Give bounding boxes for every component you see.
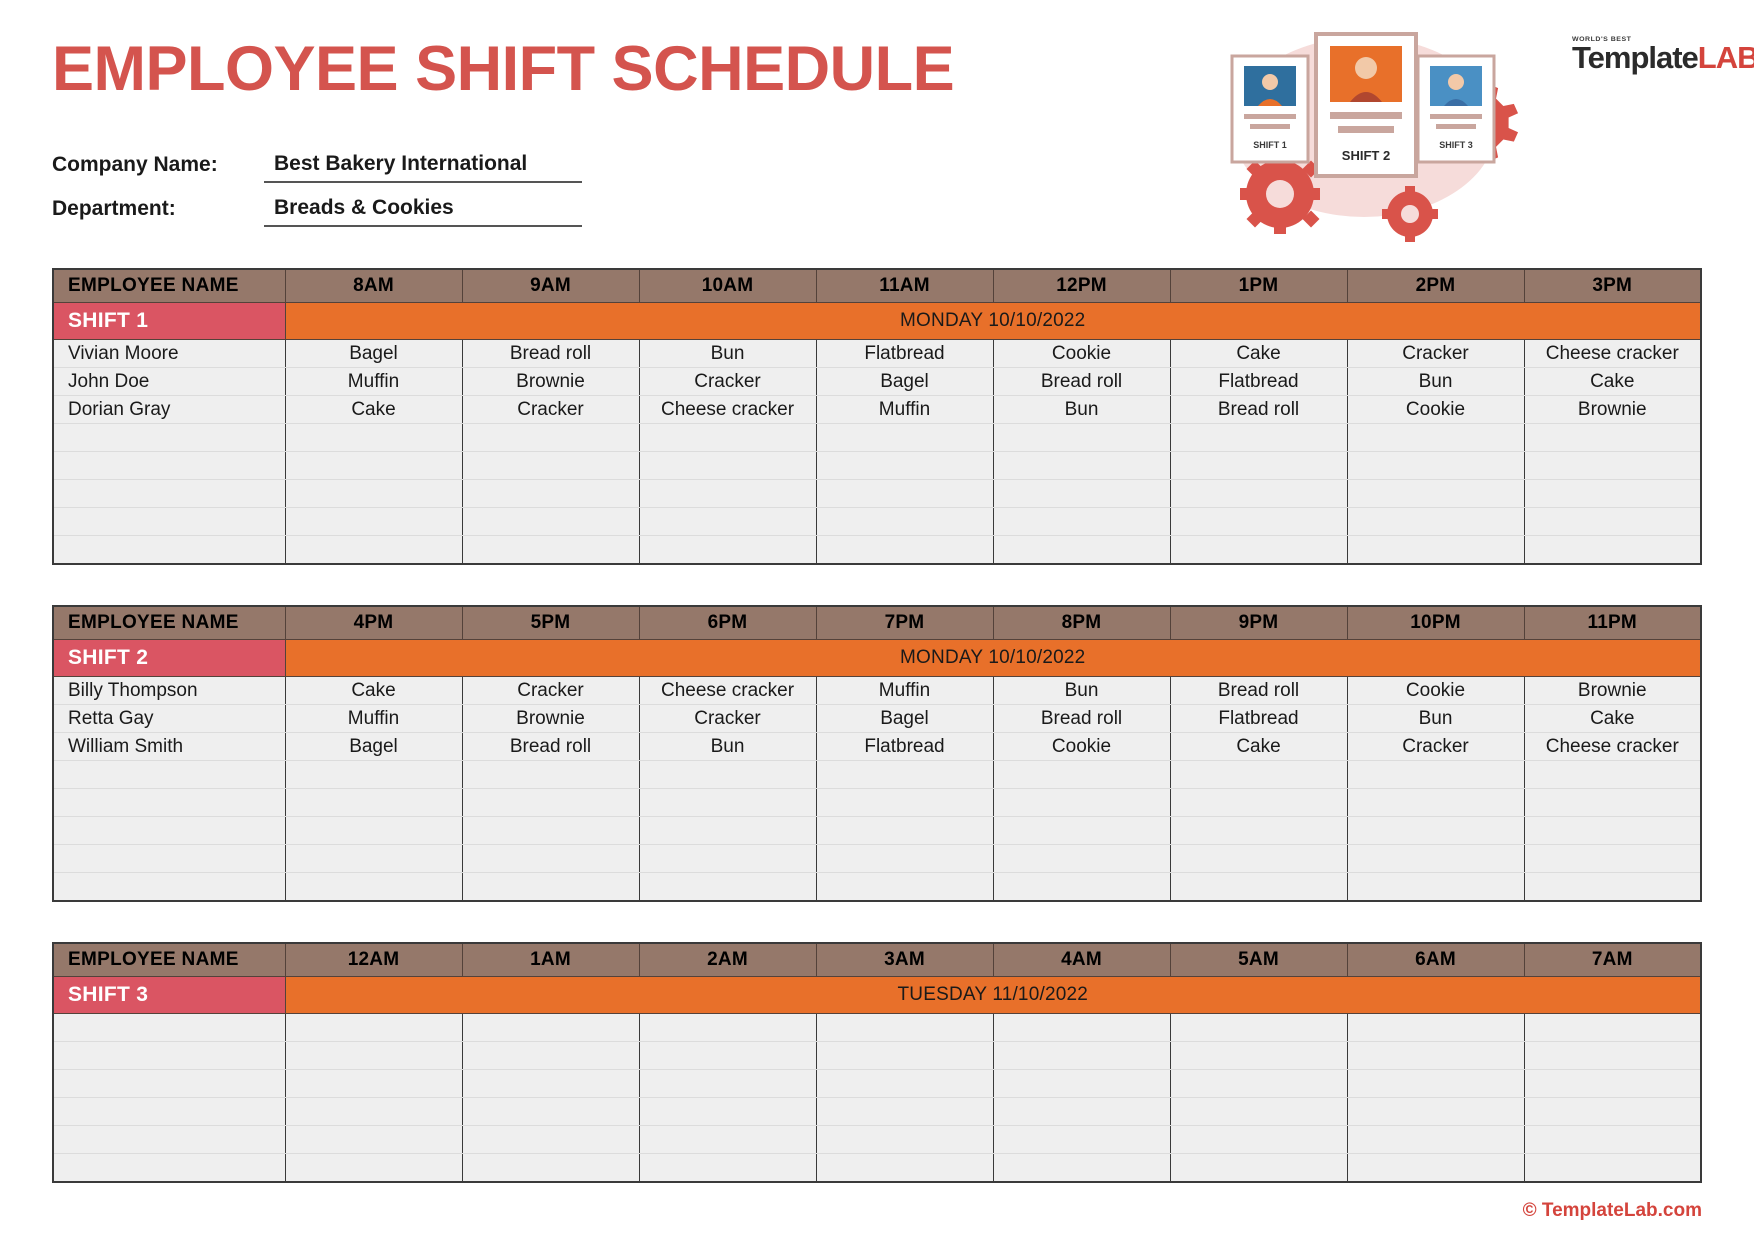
shift-task-cell[interactable]: Muffin <box>816 677 993 705</box>
shift-task-cell[interactable]: Cake <box>1170 340 1347 368</box>
shift-task-cell[interactable] <box>1347 1042 1524 1070</box>
shift-task-cell[interactable] <box>1524 508 1701 536</box>
shift-task-cell[interactable] <box>993 508 1170 536</box>
column-header-hour: 12PM <box>993 269 1170 303</box>
shift-task-cell[interactable] <box>639 1070 816 1098</box>
shift-task-cell[interactable] <box>639 1042 816 1070</box>
employee-name-cell[interactable]: Vivian Moore <box>53 340 285 368</box>
table-row <box>53 480 1701 508</box>
shift-task-cell[interactable] <box>1170 424 1347 452</box>
footer-copyright: © TemplateLab.com <box>1523 1200 1702 1222</box>
table-row <box>53 536 1701 565</box>
shift-task-cell[interactable]: Brownie <box>462 368 639 396</box>
shift-task-cell[interactable] <box>462 480 639 508</box>
column-header-employee-name: EMPLOYEE NAME <box>53 606 285 640</box>
shift-task-cell[interactable] <box>462 508 639 536</box>
employee-name-cell[interactable] <box>53 789 285 817</box>
brand-name: TemplateLAB <box>1572 43 1698 72</box>
shift-task-cell[interactable] <box>285 789 462 817</box>
shift-task-cell[interactable]: Muffin <box>285 368 462 396</box>
shift-task-cell[interactable] <box>639 873 816 902</box>
shift-task-cell[interactable] <box>816 1154 993 1183</box>
employee-name-cell[interactable] <box>53 1070 285 1098</box>
shift-task-cell[interactable]: Cheese cracker <box>1524 340 1701 368</box>
shift-schedule-page: EMPLOYEE SHIFT SCHEDULE Company Name: Be… <box>0 0 1754 1240</box>
employee-name-cell[interactable] <box>53 845 285 873</box>
shift-task-cell[interactable]: Cookie <box>993 733 1170 761</box>
table-row: Retta GayMuffinBrownieCrackerBagelBread … <box>53 705 1701 733</box>
shift-task-cell[interactable]: Bread roll <box>462 733 639 761</box>
column-header-hour: 9PM <box>1170 606 1347 640</box>
shift-task-cell[interactable] <box>1524 761 1701 789</box>
employee-name-cell[interactable] <box>53 873 285 902</box>
shift-task-cell[interactable]: Flatbread <box>1170 705 1347 733</box>
shift-task-cell[interactable] <box>1170 1126 1347 1154</box>
column-header-hour: 5AM <box>1170 943 1347 977</box>
shift-task-cell[interactable] <box>993 789 1170 817</box>
shift-task-cell[interactable] <box>1524 817 1701 845</box>
schedule-tables: EMPLOYEE NAME8AM9AM10AM11AM12PM1PM2PM3PM… <box>52 268 1702 1183</box>
employee-name-cell[interactable] <box>53 508 285 536</box>
shift-task-cell[interactable]: Bun <box>639 733 816 761</box>
column-header-hour: 6PM <box>639 606 816 640</box>
shift-task-cell[interactable] <box>285 480 462 508</box>
table-header-row: EMPLOYEE NAME12AM1AM2AM3AM4AM5AM6AM7AM <box>53 943 1701 977</box>
employee-name-cell[interactable]: Dorian Gray <box>53 396 285 424</box>
table-row: Dorian GrayCakeCrackerCheese crackerMuff… <box>53 396 1701 424</box>
column-header-hour: 2AM <box>639 943 816 977</box>
shift-task-cell[interactable] <box>1524 1042 1701 1070</box>
shift-task-cell[interactable] <box>1524 424 1701 452</box>
shift-task-cell[interactable] <box>993 480 1170 508</box>
shift-task-cell[interactable]: Bagel <box>285 733 462 761</box>
shift-task-cell[interactable] <box>816 1070 993 1098</box>
table-header-row: EMPLOYEE NAME8AM9AM10AM11AM12PM1PM2PM3PM <box>53 269 1701 303</box>
shift-task-cell[interactable] <box>1170 536 1347 565</box>
shift-task-cell[interactable] <box>1524 1014 1701 1042</box>
shift-task-cell[interactable] <box>462 536 639 565</box>
brand-tagline: WORLD'S BEST <box>1572 36 1698 42</box>
shift-task-cell[interactable] <box>462 761 639 789</box>
shift-task-cell[interactable]: Bread roll <box>1170 396 1347 424</box>
shift-task-cell[interactable] <box>1170 789 1347 817</box>
employee-name-cell[interactable] <box>53 1126 285 1154</box>
department-value[interactable]: Breads & Cookies <box>264 196 582 227</box>
shift-task-cell[interactable] <box>993 1042 1170 1070</box>
employee-name-cell[interactable]: John Doe <box>53 368 285 396</box>
shift-task-cell[interactable] <box>1347 452 1524 480</box>
table-row: Vivian MooreBagelBread rollBunFlatbreadC… <box>53 340 1701 368</box>
schedule-table-shift-2: EMPLOYEE NAME4PM5PM6PM7PM8PM9PM10PM11PMS… <box>52 605 1702 902</box>
shift-task-cell[interactable] <box>462 1098 639 1126</box>
shift-task-cell[interactable] <box>993 536 1170 565</box>
shift-task-cell[interactable] <box>1170 480 1347 508</box>
shift-task-cell[interactable] <box>285 536 462 565</box>
table-row <box>53 452 1701 480</box>
shift-task-cell[interactable] <box>1170 1154 1347 1183</box>
shift-task-cell[interactable]: Cake <box>285 396 462 424</box>
table-header-row: EMPLOYEE NAME4PM5PM6PM7PM8PM9PM10PM11PM <box>53 606 1701 640</box>
shift-task-cell[interactable]: Bread roll <box>1170 677 1347 705</box>
shift-task-cell[interactable] <box>1170 817 1347 845</box>
shift-task-cell[interactable] <box>1347 536 1524 565</box>
shift-task-cell[interactable] <box>1524 1098 1701 1126</box>
shift-task-cell[interactable]: Bread roll <box>993 705 1170 733</box>
shift-task-cell[interactable]: Cracker <box>639 705 816 733</box>
shift-task-cell[interactable] <box>462 1126 639 1154</box>
department-label: Department: <box>52 197 264 227</box>
shift-task-cell[interactable] <box>993 845 1170 873</box>
shift-task-cell[interactable]: Bun <box>993 677 1170 705</box>
shift-task-cell[interactable]: Bagel <box>816 368 993 396</box>
column-header-hour: 9AM <box>462 269 639 303</box>
shift-task-cell[interactable] <box>1524 1126 1701 1154</box>
column-header-hour: 4AM <box>993 943 1170 977</box>
shift-task-cell[interactable] <box>639 789 816 817</box>
shift-task-cell[interactable]: Bun <box>639 340 816 368</box>
column-header-hour: 10PM <box>1347 606 1524 640</box>
shift-task-cell[interactable] <box>285 1014 462 1042</box>
shift-task-cell[interactable] <box>639 845 816 873</box>
shift-task-cell[interactable]: Cheese cracker <box>1524 733 1701 761</box>
shift-task-cell[interactable] <box>285 424 462 452</box>
shift-task-cell[interactable] <box>1347 1070 1524 1098</box>
card-label-shift-2: SHIFT 2 <box>1342 148 1390 163</box>
shift-task-cell[interactable]: Cookie <box>993 340 1170 368</box>
shift-task-cell[interactable]: Cracker <box>462 396 639 424</box>
shift-task-cell[interactable] <box>816 424 993 452</box>
table-row <box>53 1014 1701 1042</box>
table-row <box>53 873 1701 902</box>
shift-task-cell[interactable] <box>993 452 1170 480</box>
column-header-hour: 5PM <box>462 606 639 640</box>
shift-banner-row: SHIFT 3TUESDAY 11/10/2022 <box>53 977 1701 1014</box>
table-row <box>53 817 1701 845</box>
shift-task-cell[interactable] <box>1170 452 1347 480</box>
shift-label: SHIFT 1 <box>53 303 285 340</box>
shift-task-cell[interactable] <box>462 424 639 452</box>
shift-label: SHIFT 3 <box>53 977 285 1014</box>
employee-name-cell[interactable] <box>53 1098 285 1126</box>
shift-task-cell[interactable] <box>993 1098 1170 1126</box>
employee-name-cell[interactable] <box>53 1042 285 1070</box>
shift-task-cell[interactable] <box>1170 1098 1347 1126</box>
shift-task-cell[interactable] <box>993 1070 1170 1098</box>
shift-task-cell[interactable] <box>639 424 816 452</box>
shift-task-cell[interactable]: Cracker <box>1347 340 1524 368</box>
brand-name-lab: LAB <box>1698 40 1754 75</box>
shift-task-cell[interactable] <box>639 817 816 845</box>
table-row <box>53 1154 1701 1183</box>
shift-task-cell[interactable]: Flatbread <box>1170 368 1347 396</box>
shift-task-cell[interactable] <box>1347 424 1524 452</box>
table-row <box>53 1070 1701 1098</box>
shift-task-cell[interactable] <box>462 789 639 817</box>
shift-task-cell[interactable] <box>462 817 639 845</box>
shift-task-cell[interactable] <box>993 817 1170 845</box>
column-header-hour: 12AM <box>285 943 462 977</box>
shift-task-cell[interactable] <box>285 1098 462 1126</box>
shift-task-cell[interactable] <box>1170 508 1347 536</box>
shift-task-cell[interactable]: Cheese cracker <box>639 396 816 424</box>
shift-task-cell[interactable] <box>1347 1098 1524 1126</box>
shift-task-cell[interactable] <box>816 1014 993 1042</box>
shift-task-cell[interactable]: Cake <box>1524 705 1701 733</box>
shift-task-cell[interactable] <box>462 1042 639 1070</box>
id-card-shift-3: SHIFT 3 <box>1418 56 1494 162</box>
shift-task-cell[interactable] <box>1347 845 1524 873</box>
shift-banner-row: SHIFT 1MONDAY 10/10/2022 <box>53 303 1701 340</box>
shift-task-cell[interactable] <box>1524 452 1701 480</box>
shift-task-cell[interactable] <box>816 845 993 873</box>
column-header-hour: 1AM <box>462 943 639 977</box>
shift-task-cell[interactable] <box>285 1042 462 1070</box>
shift-task-cell[interactable]: Cake <box>1524 368 1701 396</box>
table-row <box>53 761 1701 789</box>
shift-task-cell[interactable]: Cake <box>285 677 462 705</box>
shift-task-cell[interactable] <box>285 452 462 480</box>
employee-name-cell[interactable] <box>53 452 285 480</box>
shift-task-cell[interactable]: Bread roll <box>993 368 1170 396</box>
employee-name-cell[interactable] <box>53 817 285 845</box>
column-header-hour: 1PM <box>1170 269 1347 303</box>
shift-task-cell[interactable] <box>1170 873 1347 902</box>
shift-task-cell[interactable] <box>462 452 639 480</box>
column-header-hour: 6AM <box>1347 943 1524 977</box>
shift-task-cell[interactable] <box>816 789 993 817</box>
shift-task-cell[interactable] <box>285 1154 462 1183</box>
column-header-hour: 3PM <box>1524 269 1701 303</box>
shift-task-cell[interactable] <box>816 1042 993 1070</box>
shift-task-cell[interactable] <box>816 508 993 536</box>
shift-task-cell[interactable] <box>639 1098 816 1126</box>
shift-task-cell[interactable] <box>1347 1126 1524 1154</box>
employee-name-cell[interactable] <box>53 1154 285 1183</box>
shift-task-cell[interactable] <box>639 480 816 508</box>
shift-task-cell[interactable] <box>1524 536 1701 565</box>
shift-task-cell[interactable] <box>993 424 1170 452</box>
shift-task-cell[interactable]: Cracker <box>1347 733 1524 761</box>
table-row <box>53 424 1701 452</box>
shift-task-cell[interactable]: Cake <box>1170 733 1347 761</box>
shift-task-cell[interactable] <box>1347 789 1524 817</box>
shift-task-cell[interactable] <box>1347 873 1524 902</box>
shift-banner-row: SHIFT 2MONDAY 10/10/2022 <box>53 640 1701 677</box>
shift-task-cell[interactable]: Cracker <box>639 368 816 396</box>
illustration-svg: SHIFT 1 SHIFT 3 <box>1224 22 1524 252</box>
employee-name-cell[interactable] <box>53 424 285 452</box>
column-header-hour: 7PM <box>816 606 993 640</box>
table-row: John DoeMuffinBrownieCrackerBagelBread r… <box>53 368 1701 396</box>
id-card-shift-1: SHIFT 1 <box>1232 56 1308 162</box>
table-row <box>53 845 1701 873</box>
shift-task-cell[interactable] <box>816 480 993 508</box>
employee-name-cell[interactable]: Retta Gay <box>53 705 285 733</box>
table-row <box>53 1098 1701 1126</box>
shift-task-cell[interactable] <box>1170 1014 1347 1042</box>
employee-name-cell[interactable]: Billy Thompson <box>53 677 285 705</box>
shift-task-cell[interactable] <box>816 536 993 565</box>
shift-task-cell[interactable] <box>285 1070 462 1098</box>
column-header-hour: 8AM <box>285 269 462 303</box>
brand-name-template: Template <box>1572 40 1698 75</box>
shift-task-cell[interactable] <box>285 1126 462 1154</box>
table-row <box>53 1126 1701 1154</box>
schedule-table-shift-3: EMPLOYEE NAME12AM1AM2AM3AM4AM5AM6AM7AMSH… <box>52 942 1702 1183</box>
shift-task-cell[interactable] <box>1524 789 1701 817</box>
schedule-table-block-3: EMPLOYEE NAME12AM1AM2AM3AM4AM5AM6AM7AMSH… <box>52 942 1702 1183</box>
column-header-employee-name: EMPLOYEE NAME <box>53 269 285 303</box>
company-name-value[interactable]: Best Bakery International <box>264 152 582 183</box>
shift-task-cell[interactable] <box>462 1070 639 1098</box>
schedule-table-block-2: EMPLOYEE NAME4PM5PM6PM7PM8PM9PM10PM11PMS… <box>52 605 1702 902</box>
shift-task-cell[interactable]: Bun <box>1347 368 1524 396</box>
shift-cards-illustration: SHIFT 1 SHIFT 3 <box>1224 22 1524 252</box>
shift-task-cell[interactable]: Bread roll <box>462 340 639 368</box>
shift-task-cell[interactable] <box>1347 761 1524 789</box>
page-header: EMPLOYEE SHIFT SCHEDULE Company Name: Be… <box>52 0 1702 268</box>
shift-task-cell[interactable] <box>639 1014 816 1042</box>
id-card-shift-2: SHIFT 2 <box>1316 34 1416 176</box>
table-row <box>53 789 1701 817</box>
column-header-hour: 4PM <box>285 606 462 640</box>
shift-task-cell[interactable] <box>993 1014 1170 1042</box>
column-header-hour: 11PM <box>1524 606 1701 640</box>
card-label-shift-3: SHIFT 3 <box>1439 140 1473 150</box>
column-header-hour: 8PM <box>993 606 1170 640</box>
table-row: William SmithBagelBread rollBunFlatbread… <box>53 733 1701 761</box>
shift-label: SHIFT 2 <box>53 640 285 677</box>
shift-task-cell[interactable] <box>1524 845 1701 873</box>
table-row <box>53 508 1701 536</box>
column-header-hour: 7AM <box>1524 943 1701 977</box>
shift-task-cell[interactable] <box>993 761 1170 789</box>
shift-task-cell[interactable]: Bun <box>1347 705 1524 733</box>
shift-task-cell[interactable] <box>1524 873 1701 902</box>
shift-task-cell[interactable]: Bagel <box>285 340 462 368</box>
shift-task-cell[interactable]: Muffin <box>285 705 462 733</box>
shift-task-cell[interactable] <box>816 817 993 845</box>
templatelab-logo: WORLD'S BEST TemplateLAB <box>1572 36 1698 72</box>
shift-task-cell[interactable]: Cheese cracker <box>639 677 816 705</box>
shift-task-cell[interactable] <box>285 508 462 536</box>
column-header-hour: 3AM <box>816 943 993 977</box>
shift-task-cell[interactable] <box>1347 817 1524 845</box>
shift-task-cell[interactable] <box>816 873 993 902</box>
shift-task-cell[interactable] <box>462 1014 639 1042</box>
shift-task-cell[interactable] <box>1524 480 1701 508</box>
employee-name-cell[interactable] <box>53 536 285 565</box>
shift-task-cell[interactable] <box>285 845 462 873</box>
shift-task-cell[interactable] <box>1524 1154 1701 1183</box>
shift-task-cell[interactable]: Bagel <box>816 705 993 733</box>
shift-task-cell[interactable]: Brownie <box>1524 396 1701 424</box>
shift-task-cell[interactable] <box>816 1126 993 1154</box>
gear-icon-left <box>1240 154 1320 234</box>
employee-name-cell[interactable] <box>53 480 285 508</box>
shift-task-cell[interactable]: Cookie <box>1347 396 1524 424</box>
shift-task-cell[interactable] <box>993 1154 1170 1183</box>
employee-name-cell[interactable] <box>53 761 285 789</box>
shift-task-cell[interactable] <box>1347 480 1524 508</box>
company-name-label: Company Name: <box>52 153 264 183</box>
shift-task-cell[interactable] <box>816 1098 993 1126</box>
employee-name-cell[interactable]: William Smith <box>53 733 285 761</box>
shift-task-cell[interactable] <box>1524 1070 1701 1098</box>
schedule-table-shift-1: EMPLOYEE NAME8AM9AM10AM11AM12PM1PM2PM3PM… <box>52 268 1702 565</box>
shift-task-cell[interactable]: Flatbread <box>816 340 993 368</box>
shift-task-cell[interactable]: Muffin <box>816 396 993 424</box>
shift-task-cell[interactable]: Cracker <box>462 677 639 705</box>
column-header-employee-name: EMPLOYEE NAME <box>53 943 285 977</box>
column-header-hour: 10AM <box>639 269 816 303</box>
shift-task-cell[interactable] <box>462 845 639 873</box>
column-header-hour: 2PM <box>1347 269 1524 303</box>
shift-task-cell[interactable] <box>1347 508 1524 536</box>
shift-task-cell[interactable] <box>639 1154 816 1183</box>
shift-task-cell[interactable] <box>1347 1014 1524 1042</box>
column-header-hour: 11AM <box>816 269 993 303</box>
shift-task-cell[interactable] <box>639 761 816 789</box>
shift-task-cell[interactable] <box>639 536 816 565</box>
card-label-shift-1: SHIFT 1 <box>1253 140 1287 150</box>
shift-task-cell[interactable] <box>462 1154 639 1183</box>
shift-task-cell[interactable] <box>639 1126 816 1154</box>
shift-task-cell[interactable] <box>1347 1154 1524 1183</box>
shift-task-cell[interactable] <box>993 873 1170 902</box>
shift-task-cell[interactable] <box>1170 1042 1347 1070</box>
shift-task-cell[interactable] <box>639 508 816 536</box>
shift-task-cell[interactable] <box>816 452 993 480</box>
employee-name-cell[interactable] <box>53 1014 285 1042</box>
table-row <box>53 1042 1701 1070</box>
shift-task-cell[interactable] <box>285 817 462 845</box>
shift-date-label[interactable]: TUESDAY 11/10/2022 <box>285 977 1701 1014</box>
shift-task-cell[interactable]: Flatbread <box>816 733 993 761</box>
shift-task-cell[interactable]: Cookie <box>1347 677 1524 705</box>
shift-task-cell[interactable] <box>285 873 462 902</box>
shift-task-cell[interactable]: Brownie <box>1524 677 1701 705</box>
shift-task-cell[interactable]: Bun <box>993 396 1170 424</box>
shift-task-cell[interactable] <box>1170 761 1347 789</box>
shift-task-cell[interactable] <box>285 761 462 789</box>
shift-date-label[interactable]: MONDAY 10/10/2022 <box>285 303 1701 340</box>
shift-task-cell[interactable] <box>816 761 993 789</box>
shift-task-cell[interactable] <box>1170 1070 1347 1098</box>
table-row: Billy ThompsonCakeCrackerCheese crackerM… <box>53 677 1701 705</box>
schedule-table-block-1: EMPLOYEE NAME8AM9AM10AM11AM12PM1PM2PM3PM… <box>52 268 1702 565</box>
shift-task-cell[interactable] <box>462 873 639 902</box>
shift-task-cell[interactable] <box>993 1126 1170 1154</box>
shift-task-cell[interactable] <box>639 452 816 480</box>
shift-task-cell[interactable]: Brownie <box>462 705 639 733</box>
shift-task-cell[interactable] <box>1170 845 1347 873</box>
shift-date-label[interactable]: MONDAY 10/10/2022 <box>285 640 1701 677</box>
